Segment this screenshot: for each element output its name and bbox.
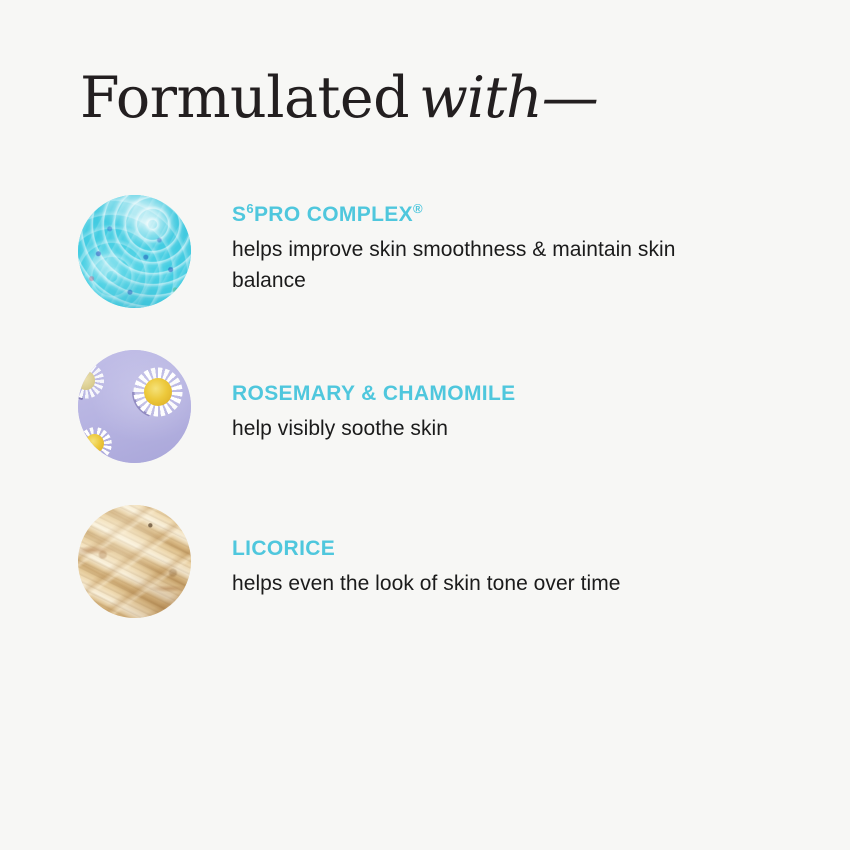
daisy-center [144, 378, 172, 406]
formulated-with-panel: Formulatedwith— S6PRO COMPLEX® helps imp… [0, 0, 850, 850]
licorice-shade-layer [78, 505, 191, 618]
daisy-flower-faded [78, 355, 112, 407]
licorice-root-image [78, 505, 191, 618]
ingredient-name-superscript: 6 [246, 201, 254, 216]
ingredient-description: help visibly soothe skin [232, 413, 737, 444]
ingredient-text-block: S6PRO COMPLEX® helps improve skin smooth… [232, 202, 792, 296]
ingredient-name: LICORICE [232, 536, 792, 562]
ingredient-name-main: LICORICE [232, 537, 335, 560]
ingredient-row: ROSEMARY & CHAMOMILE help visibly soothe… [0, 350, 850, 470]
ingredient-name-prefix: S [232, 203, 246, 226]
ingredient-text-block: LICORICE helps even the look of skin ton… [232, 536, 792, 599]
chamomile-flowers-image [78, 350, 191, 463]
ingredient-row: LICORICE helps even the look of skin ton… [0, 505, 850, 625]
ingredient-name: S6PRO COMPLEX® [232, 202, 792, 228]
page-title-italic: with— [419, 65, 598, 131]
page-title: Formulatedwith— [80, 68, 598, 129]
ingredient-row: S6PRO COMPLEX® helps improve skin smooth… [0, 195, 850, 315]
ingredient-name-main: ROSEMARY & CHAMOMILE [232, 382, 516, 405]
ingredient-name-main: PRO COMPLEX [254, 203, 413, 226]
page-title-regular: Formulated [80, 65, 409, 131]
ingredient-description: helps improve skin smoothness & maintain… [232, 234, 737, 296]
blue-gel-swatch-image [78, 195, 191, 308]
ingredient-name: ROSEMARY & CHAMOMILE [232, 381, 792, 407]
registered-trademark-icon: ® [413, 201, 423, 216]
ingredient-description: helps even the look of skin tone over ti… [232, 568, 737, 599]
gel-sheen-layer [78, 195, 191, 308]
daisy-center [78, 371, 95, 390]
daisy-flower-large [123, 357, 191, 427]
daisy-flower-small [78, 420, 119, 463]
ingredient-text-block: ROSEMARY & CHAMOMILE help visibly soothe… [232, 381, 792, 444]
